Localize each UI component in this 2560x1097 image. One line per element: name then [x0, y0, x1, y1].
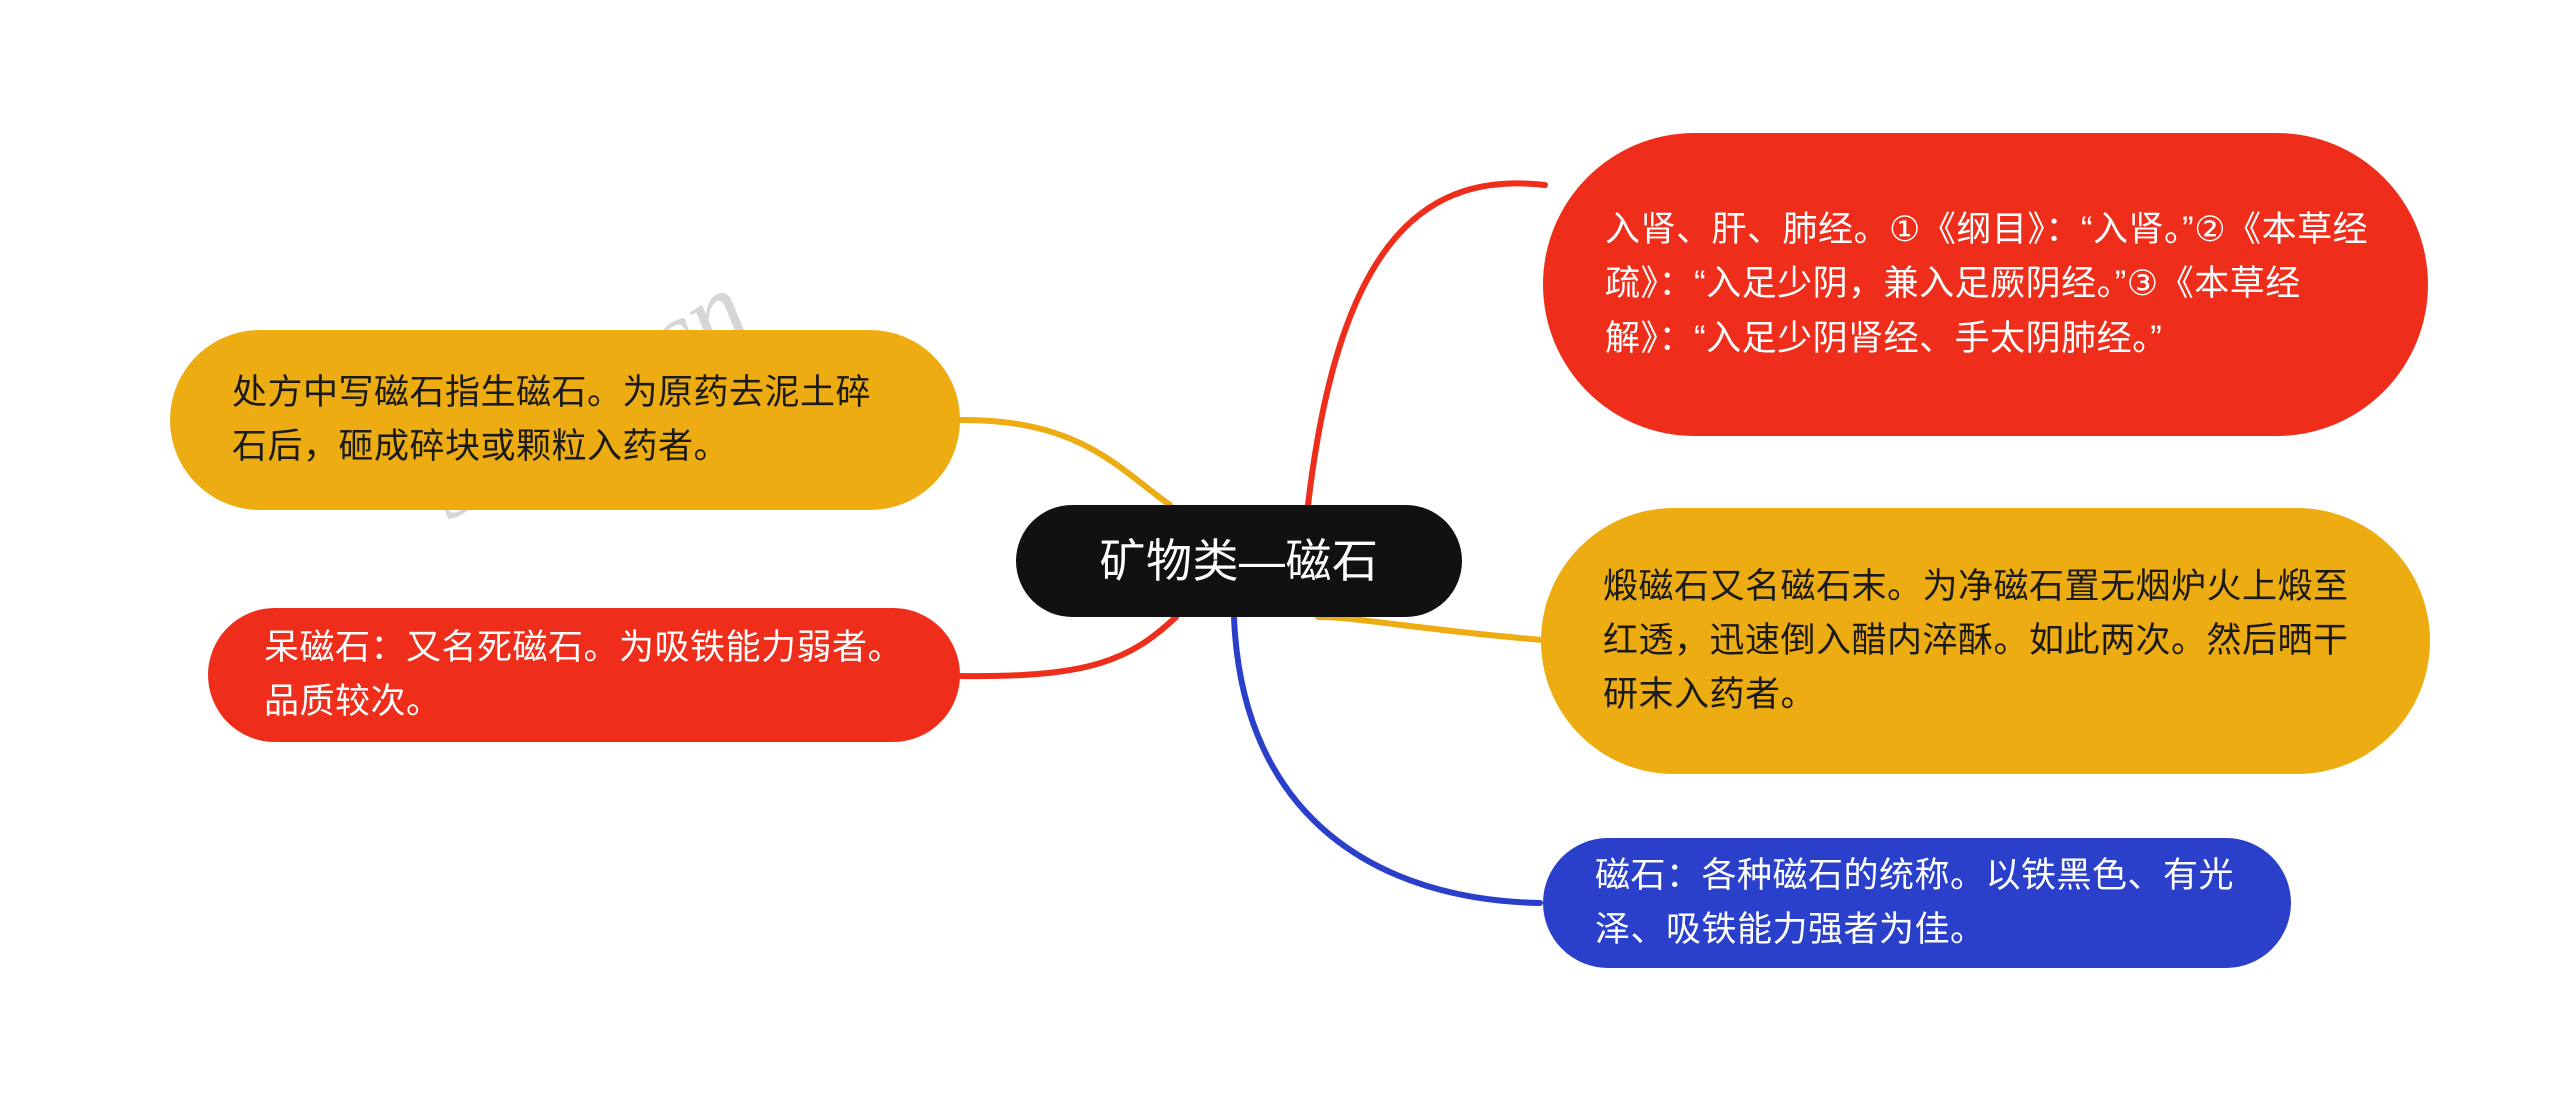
branch-node-left-yellow[interactable]: 处方中写磁石指生磁石。为原药去泥土碎石后，砸成碎块或颗粒入药者。 — [170, 330, 960, 510]
branch-node-right-red[interactable]: 入肾、肝、肺经。①《纲目》：“入肾。”②《本草经疏》：“入足少阴，兼入足厥阴经。… — [1543, 133, 2428, 436]
branch-node-right-red-text: 入肾、肝、肺经。①《纲目》：“入肾。”②《本草经疏》：“入足少阴，兼入足厥阴经。… — [1605, 203, 2370, 366]
branch-node-left-yellow-text: 处方中写磁石指生磁石。为原药去泥土碎石后，砸成碎块或颗粒入药者。 — [232, 366, 898, 475]
connector-right-red — [1308, 183, 1545, 505]
branch-node-left-red[interactable]: 呆磁石：又名死磁石。为吸铁能力弱者。品质较次。 — [208, 608, 960, 742]
root-node-label: 矿物类—磁石 — [1016, 536, 1462, 587]
branch-node-right-yellow[interactable]: 煅磁石又名磁石末。为净磁石置无烟炉火上煅至红透，迅速倒入醋内淬酥。如此两次。然后… — [1541, 508, 2430, 774]
connector-right-yellow — [1318, 617, 1543, 640]
branch-node-right-blue[interactable]: 磁石：各种磁石的统称。以铁黑色、有光泽、吸铁能力强者为佳。 — [1543, 838, 2291, 968]
connector-left-yellow — [958, 420, 1170, 505]
mindmap-canvas: shutu.cn shutu.cn 矿物类—磁石 处方中写磁石指生磁石。为原药去… — [0, 0, 2560, 1097]
root-node[interactable]: 矿物类—磁石 — [1016, 505, 1462, 617]
connector-right-blue — [1234, 617, 1540, 903]
branch-node-right-yellow-text: 煅磁石又名磁石末。为净磁石置无烟炉火上煅至红透，迅速倒入醋内淬酥。如此两次。然后… — [1603, 560, 2368, 723]
branch-node-left-red-text: 呆磁石：又名死磁石。为吸铁能力弱者。品质较次。 — [264, 621, 904, 730]
branch-node-right-blue-text: 磁石：各种磁石的统称。以铁黑色、有光泽、吸铁能力强者为佳。 — [1595, 849, 2239, 958]
connector-left-red — [958, 617, 1176, 676]
